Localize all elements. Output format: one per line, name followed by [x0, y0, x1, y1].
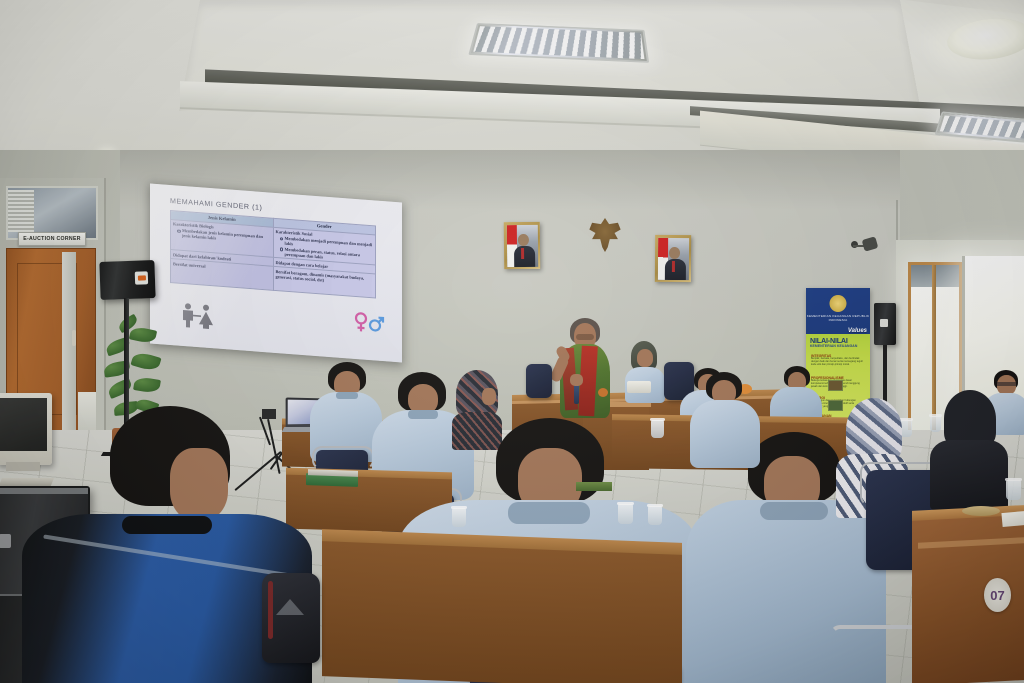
male-female-pictogram: [179, 302, 219, 336]
seminar-room-photo: E-AUCTION CORNER MEMAHAMI GENDER (1) Jen…: [0, 0, 1024, 683]
vice-president-portrait-frame: [655, 235, 691, 282]
desk-number-plate: 07: [984, 578, 1011, 612]
ministry-crest-icon: [830, 295, 847, 312]
chair[interactable]: [526, 364, 552, 398]
tissue-box: [627, 381, 651, 393]
cctv-camera: [853, 238, 877, 254]
banner-organization: KEMENTERIAN KEUANGAN REPUBLIK INDONESIA: [806, 314, 870, 322]
backpack: [262, 573, 320, 663]
glasses: [997, 382, 1016, 386]
hijab: [846, 398, 902, 462]
attendee-dark-right: [930, 390, 1008, 510]
gender-symbol-svg: [353, 311, 385, 335]
portrait-image: [657, 237, 688, 279]
fruit: [598, 388, 608, 397]
jbl-speaker: [99, 260, 155, 300]
jbl-logo-icon: [135, 271, 148, 284]
pictogram-svg: [179, 302, 219, 331]
presenter-glasses: [576, 334, 594, 340]
backpack-strap: [268, 581, 273, 639]
bowl: [962, 506, 1000, 516]
drink-cup: [1006, 480, 1021, 500]
banner-accent-word: Values: [848, 328, 867, 334]
banner-thumbnail: [828, 380, 843, 391]
pa-speaker-right: [874, 303, 896, 345]
banner-subhead: KEMENTERIAN KEUANGAN: [810, 344, 857, 348]
e-auction-corner-sign: E-AUCTION CORNER: [18, 232, 86, 246]
drink-cup: [452, 508, 466, 527]
attendee-hijab-front-table: [625, 341, 665, 403]
projection-screen: MEMAHAMI GENDER (1) Jenis Kelamin Gender…: [150, 184, 402, 363]
portrait-image: [506, 224, 537, 266]
president-portrait-frame: [504, 222, 540, 269]
presenter: [552, 318, 618, 418]
venus-mars-symbols: [353, 311, 385, 340]
banner-value-1: INTEGRITAS Berpikir, berkata, berperilak…: [811, 354, 863, 367]
backpack-logo-icon: [276, 599, 304, 615]
door-handle[interactable]: [72, 330, 76, 346]
attendee-mid-right: [690, 372, 760, 468]
paper-sheet: [1001, 511, 1024, 527]
jacket-collar: [122, 516, 212, 534]
presenter-hand-mic: [570, 374, 583, 386]
table-front: [322, 541, 682, 683]
drink-cup: [618, 504, 633, 524]
chair-arm: [312, 446, 374, 470]
drink-cup: [648, 506, 662, 525]
presentation-slide: MEMAHAMI GENDER (1) Jenis Kelamin Gender…: [161, 196, 389, 345]
window-blinds: [8, 190, 34, 232]
notebook: [576, 482, 612, 491]
slide-table: Jenis Kelamin Gender Karakteristik Biolo…: [170, 210, 376, 298]
